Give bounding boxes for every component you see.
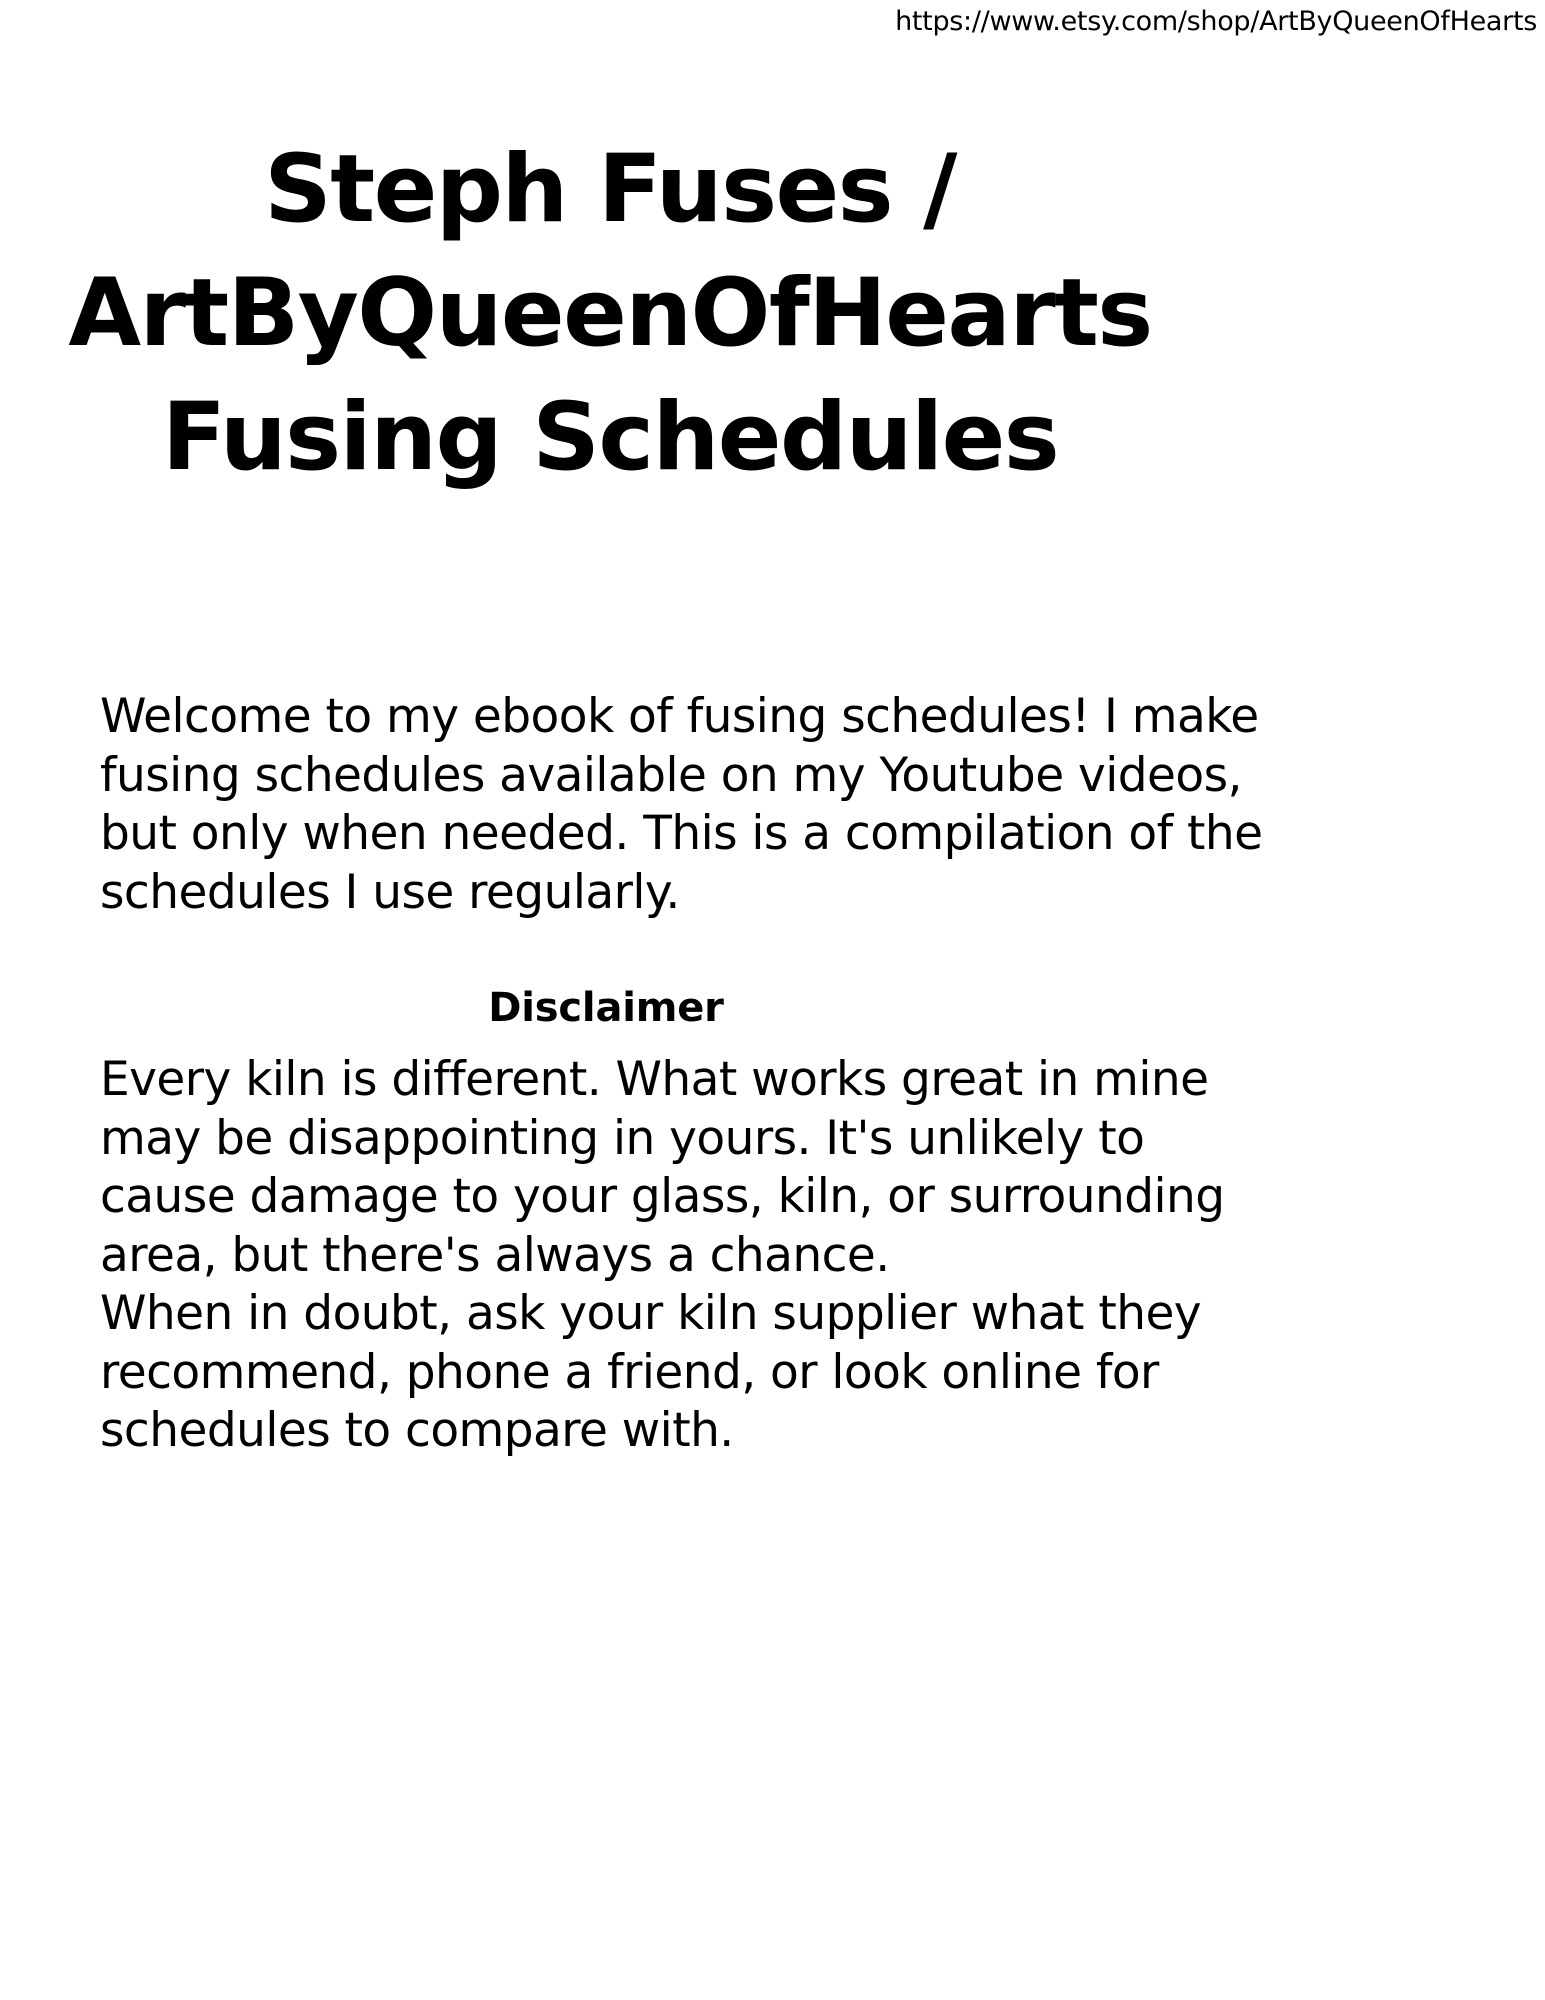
page-title-line-2: ArtByQueenOfHearts [60,252,1160,376]
disclaimer-p2-line-1: When in doubt, ask your kiln supplier wh… [100,1285,1130,1344]
heading-spacer [100,1032,1130,1051]
page-title-line-1: Steph Fuses / [60,128,1160,252]
disclaimer-p1-line-4: area, but there's always a chance. [100,1227,1130,1286]
disclaimer-paragraph-1: Every kiln is different. What works grea… [100,1051,1130,1285]
disclaimer-p2-line-2: recommend, phone a friend, or look onlin… [100,1344,1130,1403]
document-page: https://www.etsy.com/shop/ArtByQueenOfHe… [0,0,1545,2000]
document-body: Welcome to my ebook of fusing schedules!… [100,688,1130,1461]
page-title: Steph Fuses / ArtByQueenOfHearts Fusing … [60,128,1160,500]
intro-line-3: but only when needed. This is a compilat… [100,805,1130,864]
intro-paragraph: Welcome to my ebook of fusing schedules!… [100,688,1130,922]
disclaimer-p1-line-3: cause damage to your glass, kiln, or sur… [100,1168,1130,1227]
disclaimer-p1-line-2: may be disappointing in yours. It's unli… [100,1110,1130,1169]
disclaimer-heading: Disclaimer [100,984,1130,1032]
header-url[interactable]: https://www.etsy.com/shop/ArtByQueenOfHe… [895,6,1537,38]
disclaimer-p1-line-1: Every kiln is different. What works grea… [100,1051,1130,1110]
intro-line-4: schedules I use regularly. [100,864,1130,923]
disclaimer-paragraph-2: When in doubt, ask your kiln supplier wh… [100,1285,1130,1461]
intro-line-1: Welcome to my ebook of fusing schedules!… [100,688,1130,747]
paragraph-spacer [100,922,1130,984]
page-title-line-3: Fusing Schedules [60,376,1160,500]
intro-line-2: fusing schedules available on my Youtube… [100,747,1130,806]
disclaimer-p2-line-3: schedules to compare with. [100,1402,1130,1461]
